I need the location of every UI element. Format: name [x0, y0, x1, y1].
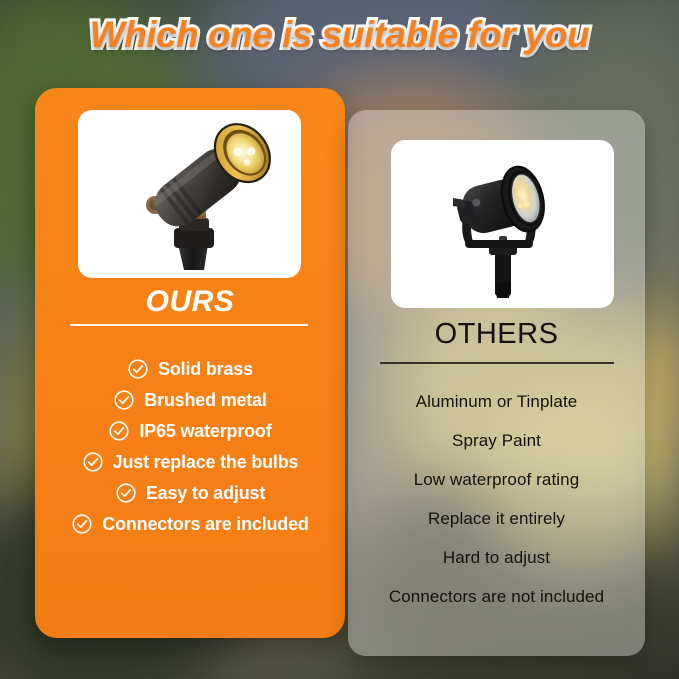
- check-circle-icon: [113, 389, 135, 411]
- list-item: Easy to adjust: [115, 482, 265, 504]
- comparison-infographic: Which one is suitable for you: [0, 0, 679, 679]
- ours-divider: [70, 324, 308, 326]
- list-item: Brushed metal: [113, 389, 266, 411]
- list-item: Aluminum or Tinplate: [416, 392, 578, 412]
- ours-heading: OURS: [35, 285, 345, 319]
- list-item: Spray Paint: [452, 431, 541, 451]
- list-item: IP65 waterproof: [108, 420, 271, 442]
- list-item: Connectors are included: [71, 513, 308, 535]
- check-circle-icon: [82, 451, 104, 473]
- black-spotlight-icon: [391, 140, 614, 308]
- others-divider: [380, 362, 614, 364]
- page-title: Which one is suitable for you: [0, 14, 679, 56]
- list-item-label: Connectors are included: [102, 514, 308, 535]
- ours-feature-list: Solid brass Brushed metal IP65 waterproo…: [35, 358, 345, 535]
- others-feature-list: Aluminum or Tinplate Spray Paint Low wat…: [348, 392, 645, 607]
- brass-spotlight-icon: [78, 110, 301, 278]
- check-circle-icon: [71, 513, 93, 535]
- others-heading: OTHERS: [348, 318, 645, 351]
- check-circle-icon: [115, 482, 137, 504]
- check-circle-icon: [127, 358, 149, 380]
- check-circle-icon: [108, 420, 130, 442]
- list-item-label: Easy to adjust: [146, 483, 265, 504]
- list-item: Low waterproof rating: [414, 470, 580, 490]
- list-item: Replace it entirely: [428, 509, 565, 529]
- list-item-label: Just replace the bulbs: [113, 452, 299, 473]
- list-item: Hard to adjust: [443, 548, 550, 568]
- list-item: Connectors are not included: [389, 587, 604, 607]
- ours-product-image-card: [78, 110, 301, 278]
- list-item-label: Solid brass: [158, 359, 253, 380]
- others-product-image-card: [391, 140, 614, 308]
- list-item-label: IP65 waterproof: [139, 421, 271, 442]
- list-item: Just replace the bulbs: [82, 451, 299, 473]
- list-item: Solid brass: [127, 358, 253, 380]
- list-item-label: Brushed metal: [144, 390, 266, 411]
